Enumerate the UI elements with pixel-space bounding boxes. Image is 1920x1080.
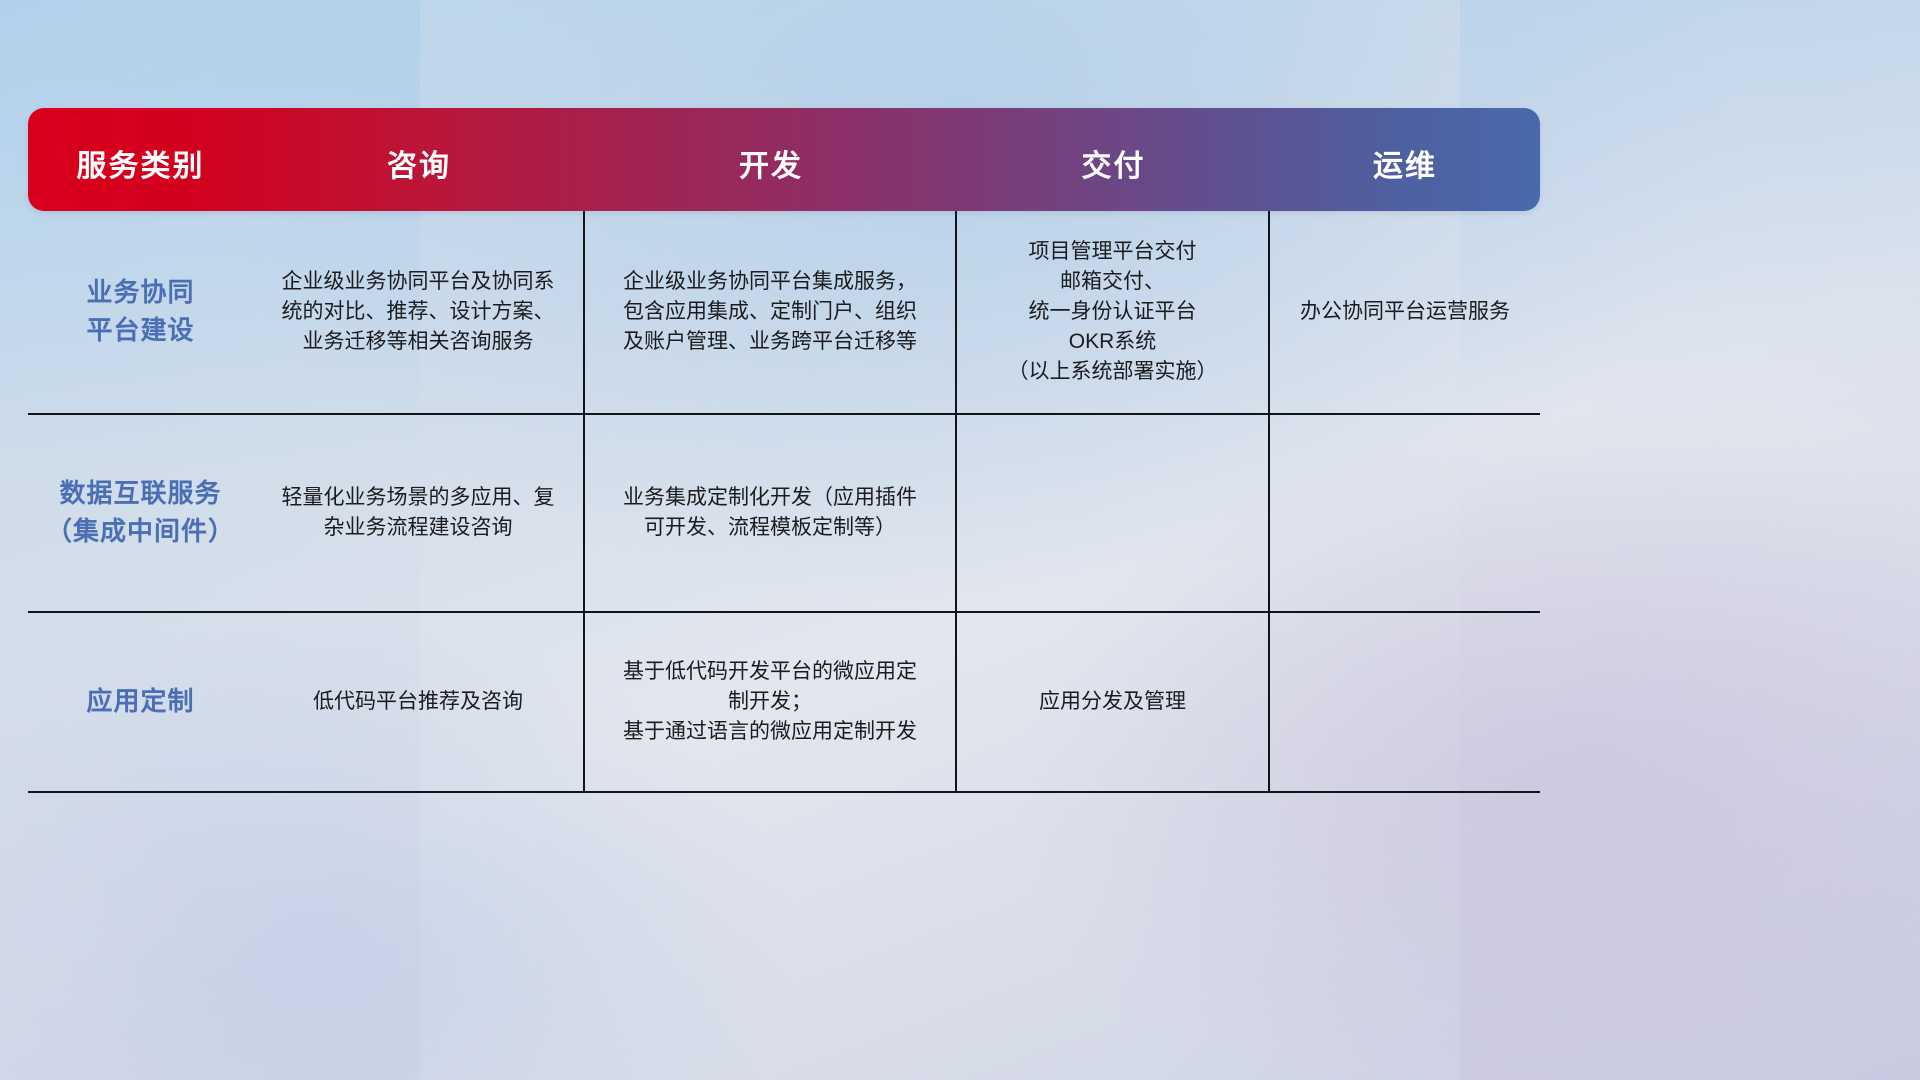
cell-operations xyxy=(1270,415,1540,611)
column-header-consulting: 咨询 xyxy=(253,108,585,211)
cell-development: 基于低代码开发平台的微应用定 制开发； 基于通过语言的微应用定制开发 xyxy=(585,613,957,791)
table-header-row: 服务类别 咨询 开发 交付 运维 xyxy=(28,108,1540,211)
table-row: 应用定制 低代码平台推荐及咨询 基于低代码开发平台的微应用定 制开发； 基于通过… xyxy=(28,613,1540,793)
table-body: 业务协同 平台建设 企业级业务协同平台及协同系 统的对比、推荐、设计方案、 业务… xyxy=(28,211,1540,793)
cell-delivery: 项目管理平台交付 邮箱交付、 统一身份认证平台 OKR系统 （以上系统部署实施） xyxy=(957,211,1270,413)
cell-delivery xyxy=(957,415,1270,611)
cell-delivery: 应用分发及管理 xyxy=(957,613,1270,791)
service-matrix-table: 服务类别 咨询 开发 交付 运维 业务协同 平台建设 企业级业务协同平台及协同系… xyxy=(28,108,1540,793)
table-row: 数据互联服务 （集成中间件） 轻量化业务场景的多应用、复 杂业务流程建设咨询 业… xyxy=(28,415,1540,613)
cell-consulting: 轻量化业务场景的多应用、复 杂业务流程建设咨询 xyxy=(253,415,585,611)
column-header-category: 服务类别 xyxy=(28,108,253,211)
column-header-operations: 运维 xyxy=(1270,108,1540,211)
cell-development: 企业级业务协同平台集成服务， 包含应用集成、定制门户、组织 及账户管理、业务跨平… xyxy=(585,211,957,413)
row-category-label: 应用定制 xyxy=(28,613,253,791)
table-row: 业务协同 平台建设 企业级业务协同平台及协同系 统的对比、推荐、设计方案、 业务… xyxy=(28,211,1540,415)
cell-operations xyxy=(1270,613,1540,791)
cell-consulting: 低代码平台推荐及咨询 xyxy=(253,613,585,791)
cell-consulting: 企业级业务协同平台及协同系 统的对比、推荐、设计方案、 业务迁移等相关咨询服务 xyxy=(253,211,585,413)
row-category-label: 业务协同 平台建设 xyxy=(28,211,253,413)
cell-operations: 办公协同平台运营服务 xyxy=(1270,211,1540,413)
column-header-delivery: 交付 xyxy=(957,108,1270,211)
cell-development: 业务集成定制化开发（应用插件 可开发、流程模板定制等） xyxy=(585,415,957,611)
column-header-development: 开发 xyxy=(585,108,957,211)
row-category-label: 数据互联服务 （集成中间件） xyxy=(28,415,253,611)
